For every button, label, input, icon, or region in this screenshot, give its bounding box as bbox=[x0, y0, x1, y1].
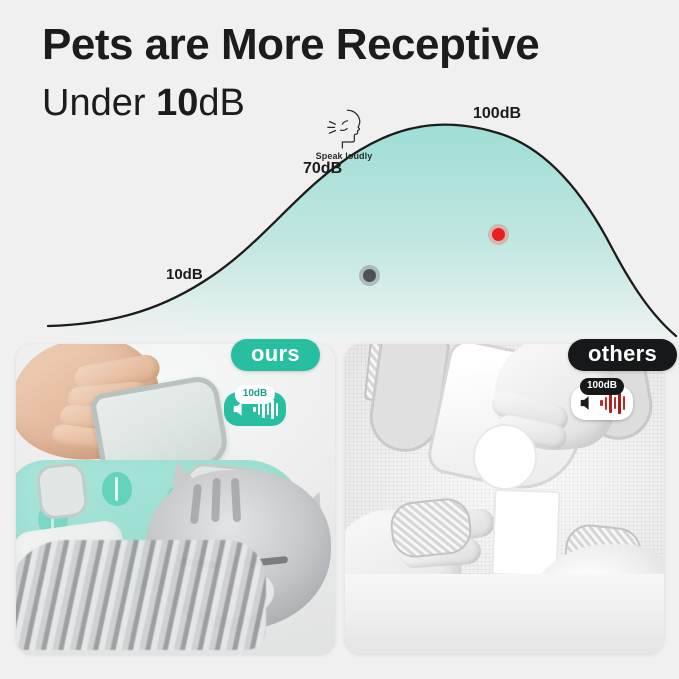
speaker-wave-icon bbox=[579, 394, 597, 412]
badge-others[interactable]: others bbox=[568, 339, 677, 371]
point-label-10db: 10dB bbox=[166, 266, 203, 283]
chart-fill-fade bbox=[0, 230, 210, 340]
sound-badge-others[interactable]: 100dB bbox=[571, 386, 633, 420]
sound-badge-others-label: 100dB bbox=[580, 378, 624, 395]
photo-ours-image bbox=[16, 344, 335, 654]
point-label-70db: 70dB bbox=[303, 160, 342, 178]
speak-loudly-annotation: Speak loudly bbox=[308, 108, 380, 161]
badge-ours[interactable]: ours bbox=[231, 339, 320, 371]
sound-wave-bars-others bbox=[600, 393, 625, 414]
promo-infographic: Pets are More Receptive Under 10dB bbox=[0, 0, 679, 679]
comparison-photos: 10dB 100dB bbox=[0, 336, 679, 662]
point-dot-70db[interactable] bbox=[363, 269, 376, 282]
photo-card-ours[interactable] bbox=[16, 344, 335, 654]
sound-badge-ours[interactable]: 10dB bbox=[224, 392, 286, 426]
sound-badge-ours-label: 10dB bbox=[235, 385, 275, 404]
page-title: Pets are More Receptive bbox=[42, 22, 642, 68]
point-label-100db: 100dB bbox=[473, 105, 521, 123]
point-dot-100db[interactable] bbox=[492, 228, 505, 241]
speaking-head-icon bbox=[322, 108, 366, 150]
